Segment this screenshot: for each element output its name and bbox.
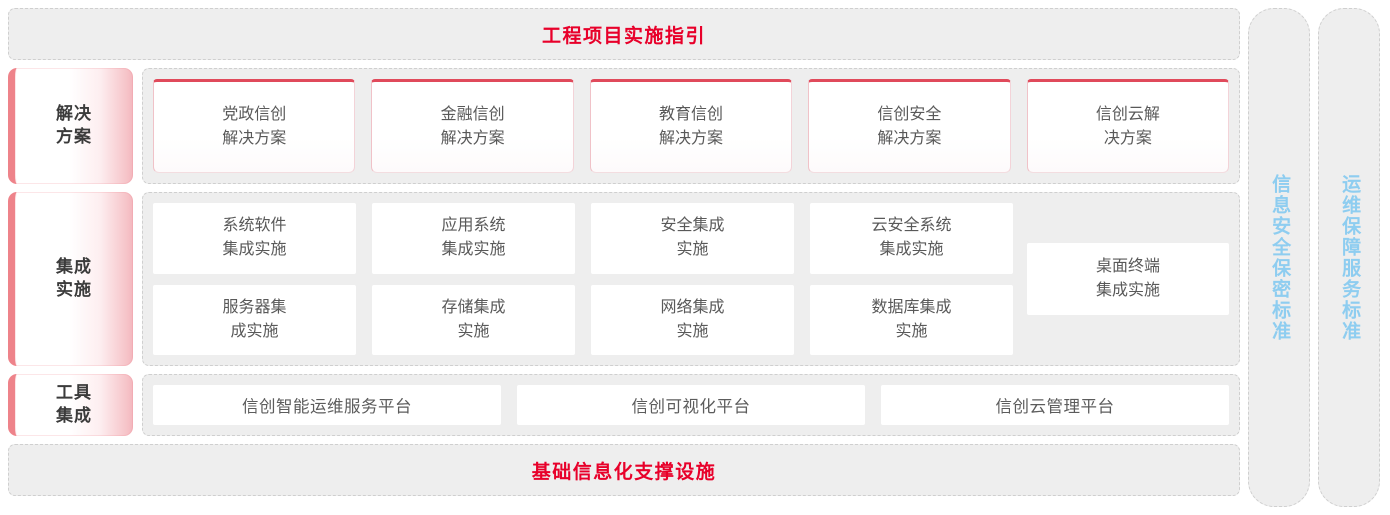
solution-card[interactable]: 教育信创 解决方案 (590, 79, 792, 173)
solution-card[interactable]: 党政信创 解决方案 (153, 79, 355, 173)
solution-card-label: 信创安全 解决方案 (877, 103, 941, 151)
panel-integration: 系统软件 集成实施 应用系统 集成实施 安全集成 实施 云安全系统 集成实施 服 (142, 192, 1240, 366)
panel-tools: 信创智能运维服务平台 信创可视化平台 信创云管理平台 (142, 374, 1240, 436)
band-integration: 集成 实施 系统软件 集成实施 应用系统 集成实施 安全集成 实施 (8, 192, 1240, 366)
tool-card-grid: 信创智能运维服务平台 信创可视化平台 信创云管理平台 (153, 385, 1229, 425)
integration-card[interactable]: 云安全系统 集成实施 (810, 203, 1013, 274)
tool-card-label: 信创云管理平台 (996, 393, 1115, 417)
solution-card-label: 教育信创 解决方案 (659, 103, 723, 151)
integration-card-label: 网络集成 实施 (660, 296, 724, 344)
side-column-security-standard[interactable]: 信息安全保密标准 (1248, 8, 1310, 507)
tool-card-label: 信创可视化平台 (632, 393, 751, 417)
integration-wrap: 系统软件 集成实施 应用系统 集成实施 安全集成 实施 云安全系统 集成实施 服 (153, 203, 1229, 355)
panel-solutions: 党政信创 解决方案 金融信创 解决方案 教育信创 解决方案 信创安全 解决方案 … (142, 68, 1240, 184)
integration-card-grid: 系统软件 集成实施 应用系统 集成实施 安全集成 实施 云安全系统 集成实施 服 (153, 203, 1013, 355)
band-label-integration[interactable]: 集成 实施 (8, 192, 133, 366)
solution-card-grid: 党政信创 解决方案 金融信创 解决方案 教育信创 解决方案 信创安全 解决方案 … (153, 79, 1229, 173)
tool-card-label: 信创智能运维服务平台 (242, 393, 412, 417)
integration-card-desktop-terminal[interactable]: 桌面终端 集成实施 (1027, 243, 1229, 315)
band-label-tools-text: 工具 集成 (56, 382, 92, 428)
side-column-ops-standard[interactable]: 运维保障服务标准 (1318, 8, 1380, 507)
integration-wide-slot: 桌面终端 集成实施 (1027, 203, 1229, 355)
integration-card-label: 安全集成 实施 (660, 214, 724, 262)
integration-card-label: 云安全系统 集成实施 (871, 214, 951, 262)
integration-card[interactable]: 安全集成 实施 (591, 203, 794, 274)
integration-card[interactable]: 存储集成 实施 (372, 285, 575, 356)
main-column: 工程项目实施指引 解决 方案 党政信创 解决方案 金融信创 解决方案 教育信创 … (8, 8, 1240, 507)
integration-card-label: 应用系统 集成实施 (441, 214, 505, 262)
side-column-ops-standard-label: 运维保障服务标准 (1337, 174, 1361, 342)
band-label-solutions-text: 解决 方案 (56, 103, 92, 149)
tool-card[interactable]: 信创可视化平台 (517, 385, 865, 425)
band-label-solutions[interactable]: 解决 方案 (8, 68, 133, 184)
integration-card[interactable]: 数据库集成 实施 (810, 285, 1013, 356)
integration-card[interactable]: 服务器集 成实施 (153, 285, 356, 356)
integration-card-label: 数据库集成 实施 (871, 296, 951, 344)
band-label-integration-text: 集成 实施 (56, 256, 92, 302)
band-label-tools[interactable]: 工具 集成 (8, 374, 133, 436)
diagram-root: 工程项目实施指引 解决 方案 党政信创 解决方案 金融信创 解决方案 教育信创 … (0, 0, 1390, 515)
band-solutions: 解决 方案 党政信创 解决方案 金融信创 解决方案 教育信创 解决方案 信创安全… (8, 68, 1240, 184)
header-banner: 工程项目实施指引 (8, 8, 1240, 60)
side-column-security-standard-label: 信息安全保密标准 (1267, 174, 1291, 342)
solution-card-label: 信创云解 决方案 (1096, 103, 1160, 151)
integration-card[interactable]: 应用系统 集成实施 (372, 203, 575, 274)
integration-card-label: 系统软件 集成实施 (222, 214, 286, 262)
integration-card-desktop-terminal-label: 桌面终端 集成实施 (1096, 255, 1160, 303)
footer-banner: 基础信息化支撑设施 (8, 444, 1240, 496)
band-tools: 工具 集成 信创智能运维服务平台 信创可视化平台 信创云管理平台 (8, 374, 1240, 436)
solution-card-label: 党政信创 解决方案 (222, 103, 286, 151)
integration-card[interactable]: 系统软件 集成实施 (153, 203, 356, 274)
solution-card[interactable]: 金融信创 解决方案 (371, 79, 573, 173)
integration-card-label: 服务器集 成实施 (222, 296, 286, 344)
solution-card-label: 金融信创 解决方案 (441, 103, 505, 151)
integration-card[interactable]: 网络集成 实施 (591, 285, 794, 356)
footer-title: 基础信息化支撑设施 (532, 457, 717, 484)
tool-card[interactable]: 信创云管理平台 (881, 385, 1229, 425)
page-title: 工程项目实施指引 (542, 21, 706, 48)
tool-card[interactable]: 信创智能运维服务平台 (153, 385, 501, 425)
solution-card[interactable]: 信创安全 解决方案 (808, 79, 1010, 173)
solution-card[interactable]: 信创云解 决方案 (1027, 79, 1229, 173)
integration-card-label: 存储集成 实施 (441, 296, 505, 344)
